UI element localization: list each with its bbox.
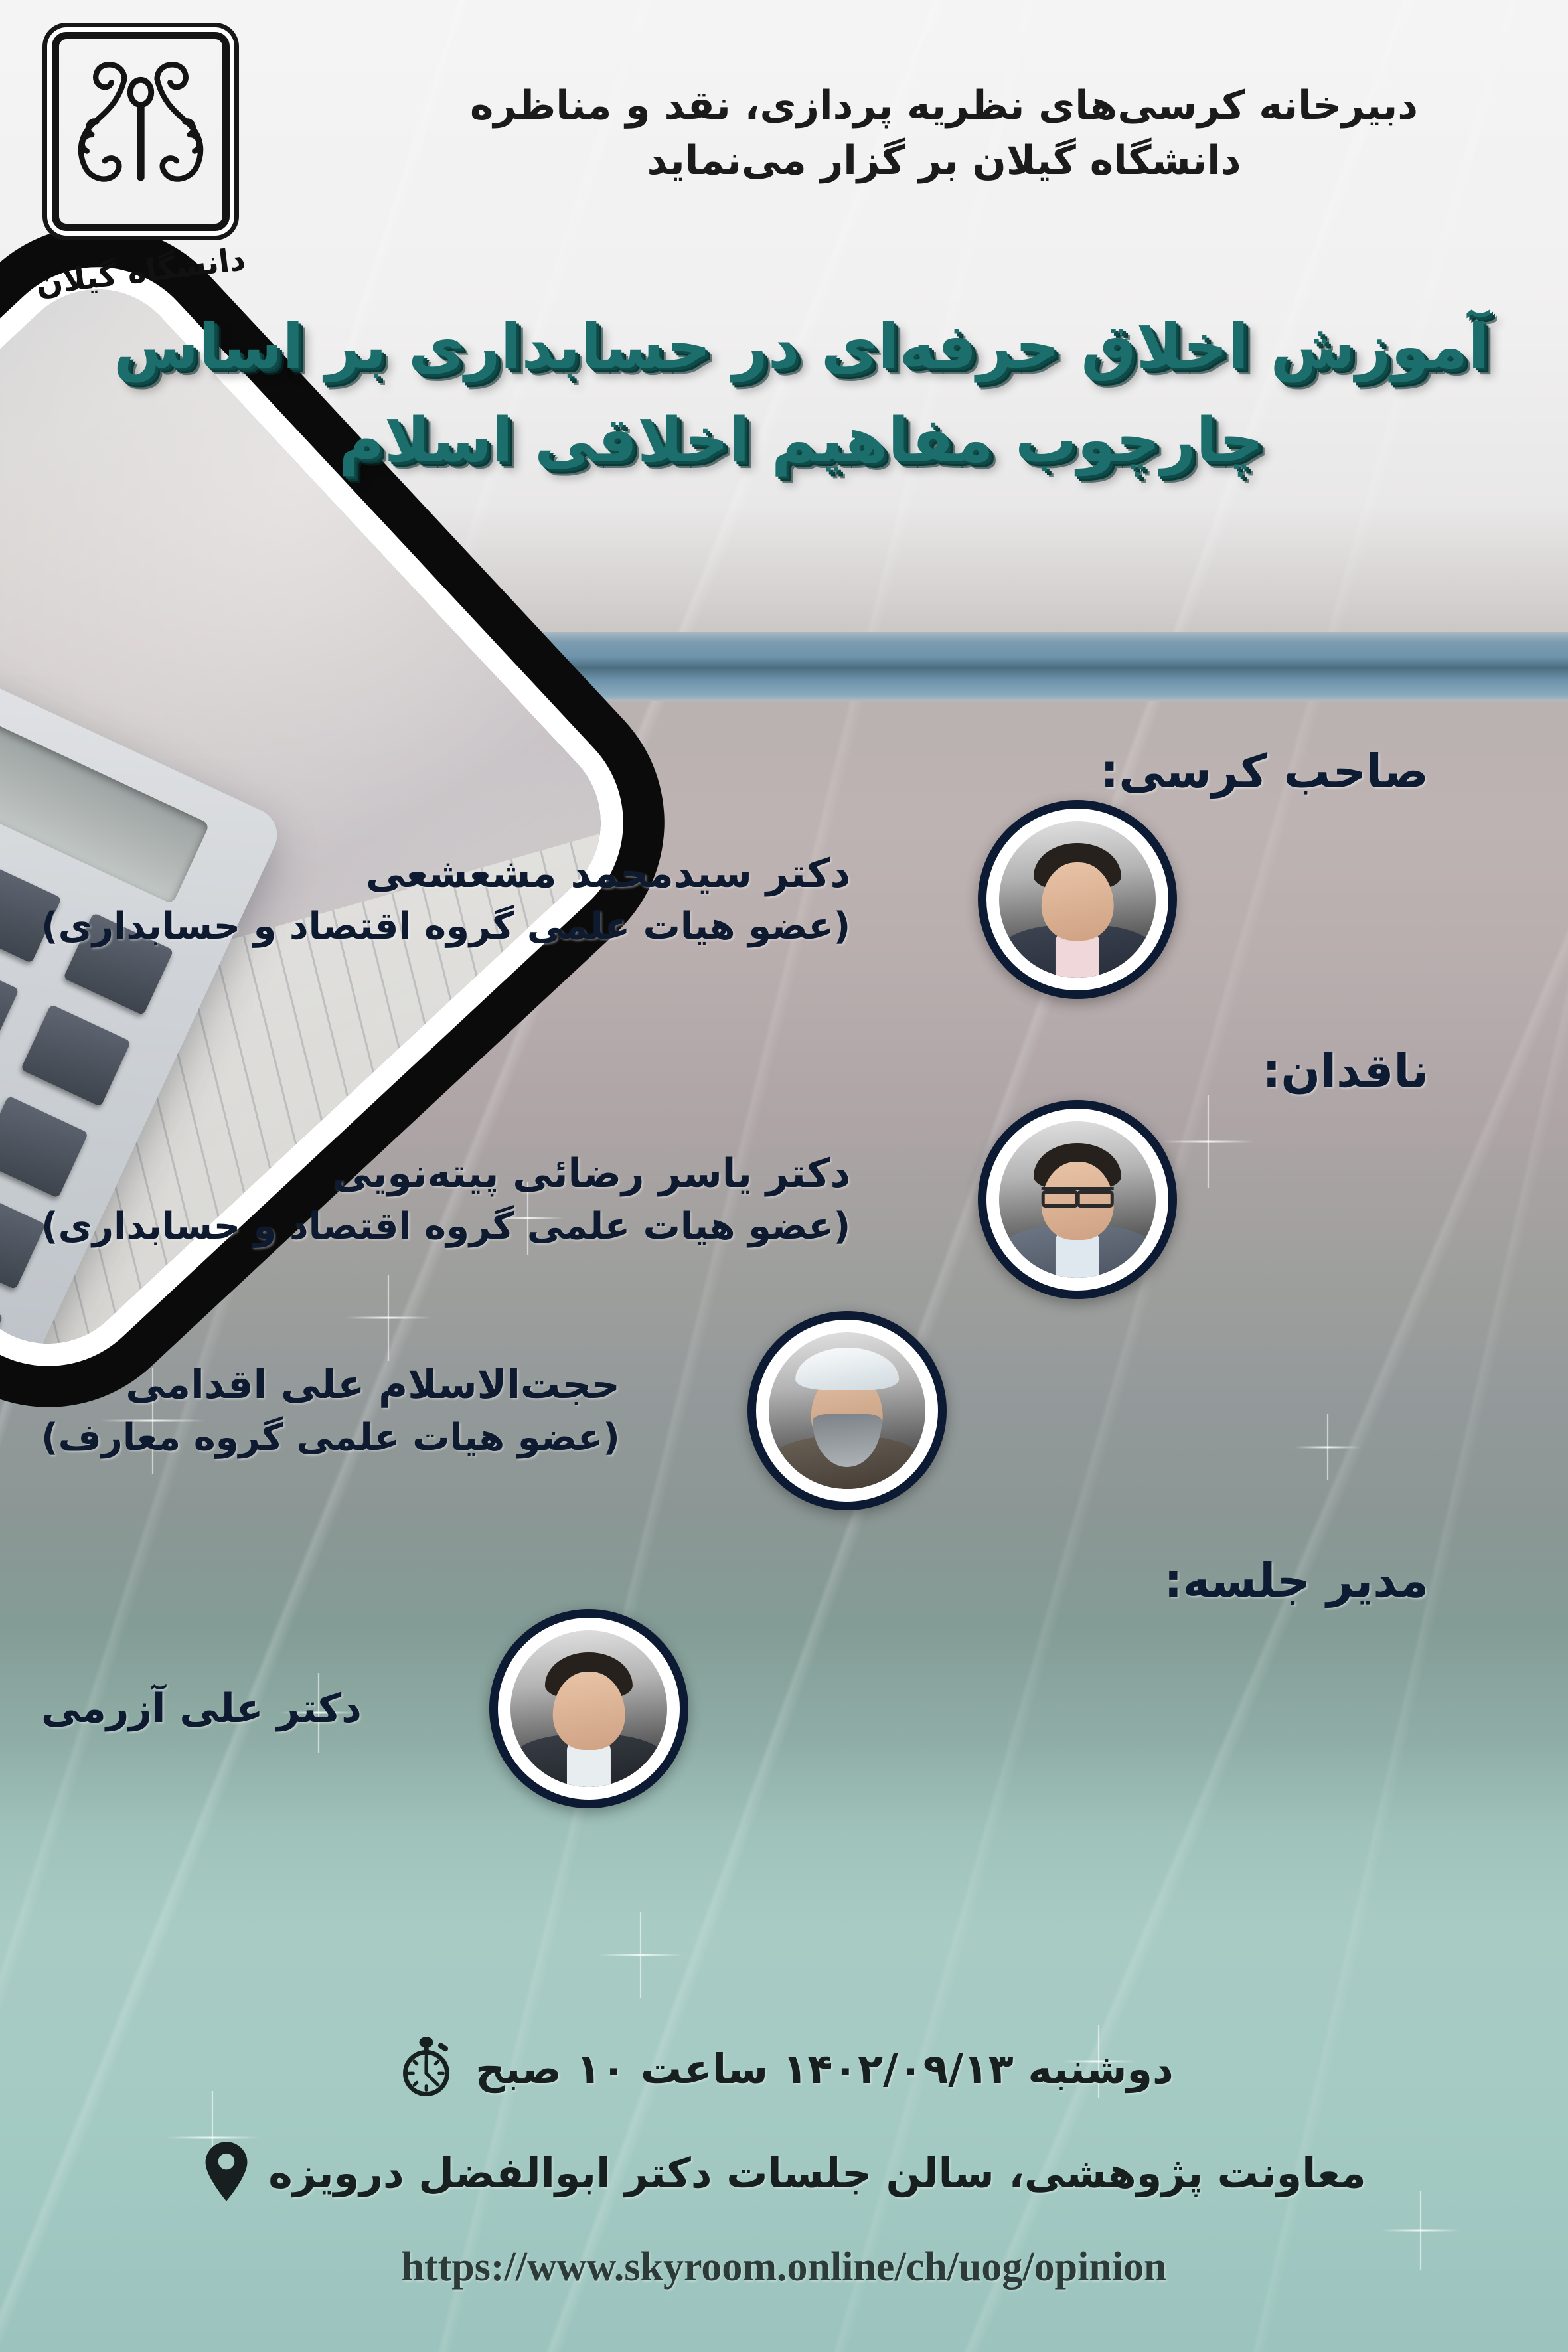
gilan-university-emblem-icon xyxy=(52,32,230,231)
person-row-critic-2: حجت‌الاسلام علی اقدامی (عضو هیات علمی گر… xyxy=(41,1311,1528,1510)
page-title: آموزش اخلاق حرفه‌ای در حسابداری بر اساس … xyxy=(94,300,1508,488)
person-affiliation: (عضو هیات علمی گروه معارف) xyxy=(41,1412,620,1463)
header-line-1: دبیرخانه کرسی‌های نظریه پردازی، نقد و من… xyxy=(360,78,1528,133)
poster-header: دبیرخانه کرسی‌های نظریه پردازی، نقد و من… xyxy=(360,78,1528,189)
poster-footer: دوشنبه ۱۴۰۲/۰۹/۱۳ ساعت ۱۰ صبح معاونت پژو… xyxy=(0,2035,1568,2291)
university-logo: دانشگاه گیلان xyxy=(35,32,247,317)
title-line-1: آموزش اخلاق حرفه‌ای در حسابداری بر اساس xyxy=(94,300,1508,394)
header-line-2: دانشگاه گیلان بر گزار می‌نماید xyxy=(360,133,1528,189)
map-pin-icon xyxy=(202,2140,251,2207)
role-group-chair: صاحب کرسی: دکتر سیدمحمد مشعشعی (عضو هیات… xyxy=(41,744,1528,999)
person-row-moderator: دکتر علی آزرمی xyxy=(41,1609,1528,1808)
avatar xyxy=(489,1609,688,1808)
person-affiliation: (عضو هیات علمی گروه اقتصاد و حسابداری) xyxy=(41,1201,850,1252)
avatar xyxy=(747,1311,947,1510)
role-group-critics: ناقدان: دکتر یاسر رضائی پیته‌نویی (عضو ه… xyxy=(41,1043,1528,1510)
role-heading-critics: ناقدان: xyxy=(41,1043,1528,1099)
person-row-critic-1: دکتر یاسر رضائی پیته‌نویی (عضو هیات علمی… xyxy=(41,1100,1528,1299)
title-line-2: چارچوب مفاهیم اخلاقی اسلام xyxy=(94,394,1508,487)
datetime-row: دوشنبه ۱۴۰۲/۰۹/۱۳ ساعت ۱۰ صبح xyxy=(0,2035,1568,2102)
event-url[interactable]: https://www.skyroom.online/ch/uog/opinio… xyxy=(0,2244,1568,2291)
person-name: حجت‌الاسلام علی اقدامی xyxy=(41,1358,620,1412)
role-heading-chair: صاحب کرسی: xyxy=(41,744,1528,800)
person-row-chair: دکتر سیدمحمد مشعشعی (عضو هیات علمی گروه … xyxy=(41,800,1528,999)
avatar xyxy=(978,1100,1177,1299)
role-group-moderator: مدیر جلسه: دکتر علی آزرمی xyxy=(41,1553,1528,1808)
person-name: دکتر سیدمحمد مشعشعی xyxy=(41,847,850,901)
person-affiliation: (عضو هیات علمی گروه اقتصاد و حسابداری) xyxy=(41,901,850,952)
person-name: دکتر یاسر رضائی پیته‌نویی xyxy=(41,1147,850,1201)
role-heading-moderator: مدیر جلسه: xyxy=(41,1553,1528,1609)
people-section: صاحب کرسی: دکتر سیدمحمد مشعشعی (عضو هیات… xyxy=(41,744,1528,1808)
location-row: معاونت پژوهشی، سالن جلسات دکتر ابوالفضل … xyxy=(0,2140,1568,2207)
logo-caption: دانشگاه گیلان xyxy=(33,241,248,303)
emblem-butterfly-pen-glyph xyxy=(59,39,222,224)
stopwatch-icon xyxy=(394,2035,458,2102)
event-datetime: دوشنبه ۱۴۰۲/۰۹/۱۳ ساعت ۱۰ صبح xyxy=(475,2045,1174,2093)
person-name: دکتر علی آزرمی xyxy=(41,1682,362,1736)
event-poster: دانشگاه گیلان دبیرخانه کرسی‌های نظریه پر… xyxy=(0,0,1568,2352)
avatar xyxy=(978,800,1177,999)
sparkle-decoration xyxy=(597,1912,684,1998)
event-location: معاونت پژوهشی، سالن جلسات دکتر ابوالفضل … xyxy=(268,2149,1366,2197)
